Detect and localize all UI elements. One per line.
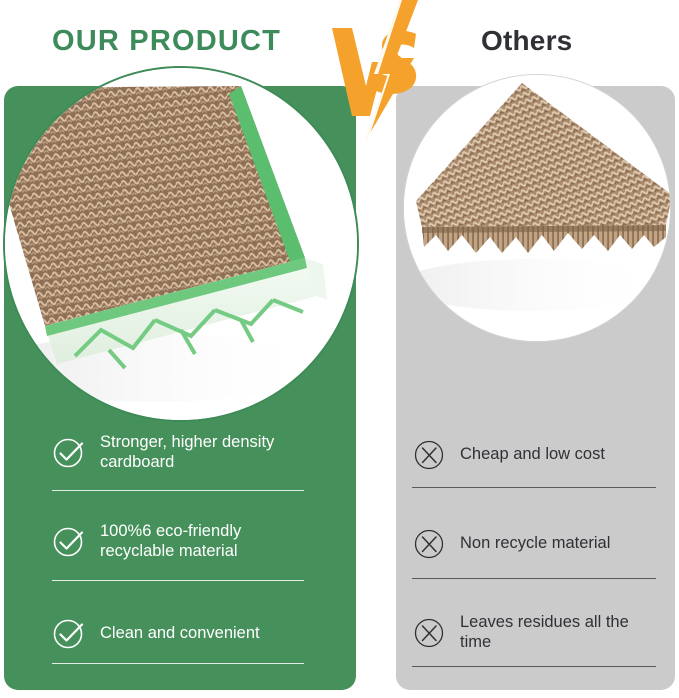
feature-item-3: Clean and convenient (52, 616, 310, 650)
comparison-infographic: OUR PRODUCT Others (0, 0, 679, 698)
feature-label: 100%6 eco-friendly recyclable material (100, 521, 310, 561)
our-product-photo (3, 66, 359, 422)
our-product-heading: OUR PRODUCT (52, 25, 281, 58)
feature-divider (52, 663, 304, 664)
check-circle-icon (52, 524, 86, 558)
drawback-divider (412, 578, 656, 579)
feature-label: Stronger, higher density cardboard (100, 432, 310, 472)
drawback-label: Leaves residues all the time (460, 612, 656, 652)
feature-divider (52, 580, 304, 581)
drawback-label: Cheap and low cost (460, 444, 605, 464)
feature-item-2: 100%6 eco-friendly recyclable material (52, 521, 310, 561)
drawback-divider (412, 487, 656, 488)
others-photo (403, 74, 671, 342)
drawback-item-2: Non recycle material (412, 526, 656, 560)
drawback-label: Non recycle material (460, 533, 610, 553)
feature-label: Clean and convenient (100, 623, 260, 643)
x-circle-icon (412, 437, 446, 471)
others-heading: Others (481, 25, 572, 57)
x-circle-icon (412, 526, 446, 560)
check-circle-icon (52, 616, 86, 650)
vs-badge (322, 0, 434, 140)
drawback-item-3: Leaves residues all the time (412, 612, 656, 652)
feature-item-1: Stronger, higher density cardboard (52, 432, 310, 472)
drawback-item-1: Cheap and low cost (412, 437, 656, 471)
x-circle-icon (412, 615, 446, 649)
drawback-divider (412, 666, 656, 667)
check-circle-icon (52, 435, 86, 469)
feature-divider (52, 490, 304, 491)
